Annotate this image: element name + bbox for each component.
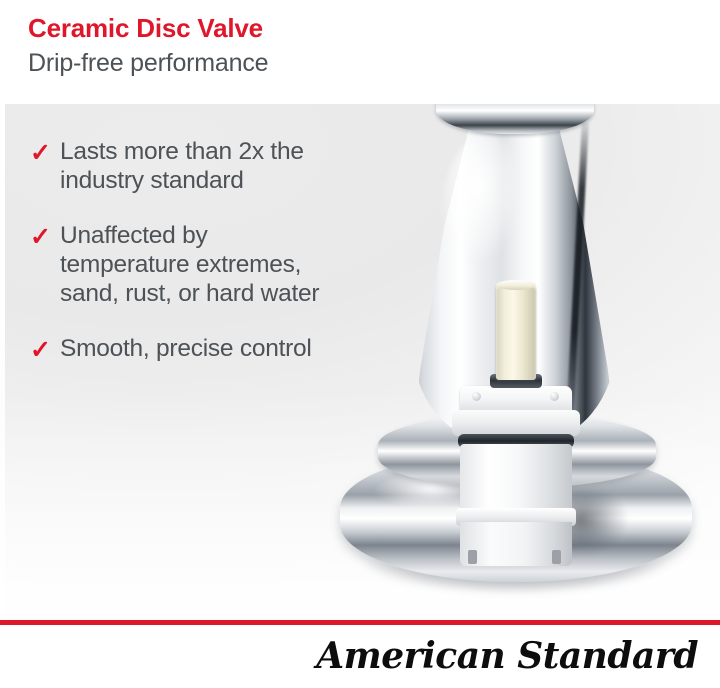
page-subtitle: Drip-free performance: [28, 48, 720, 78]
brand-logo: American Standard: [316, 635, 698, 677]
list-item: ✓ Unaffected by temperature extremes, sa…: [30, 222, 360, 309]
list-item: ✓ Smooth, precise control: [30, 335, 360, 366]
feature-text: Lasts more than 2x the industry standard: [60, 138, 328, 196]
feature-text: Unaffected by temperature extremes, sand…: [60, 222, 328, 309]
cartridge-notch-left: [468, 550, 477, 564]
page-title: Ceramic Disc Valve: [28, 14, 720, 44]
cartridge-screw-left-icon: [472, 392, 481, 401]
infographic-page: Ceramic Disc Valve Drip-free performance: [0, 0, 720, 688]
product-photo: [300, 104, 720, 622]
check-icon: ✓: [30, 223, 60, 253]
chrome-handle-cap: [436, 104, 594, 134]
cartridge-notch-right: [552, 550, 561, 564]
footer: American Standard: [0, 625, 720, 688]
check-icon: ✓: [30, 139, 60, 169]
feature-text: Smooth, precise control: [60, 335, 312, 364]
header: Ceramic Disc Valve Drip-free performance: [0, 0, 720, 104]
left-edge-strip: [0, 104, 5, 622]
feature-list: ✓ Lasts more than 2x the industry standa…: [0, 104, 360, 604]
cartridge-screw-right-icon: [550, 392, 559, 401]
stem-top-cap: [496, 280, 536, 290]
brass-valve-stem: [496, 284, 536, 380]
cartridge-flange: [452, 410, 580, 436]
list-item: ✓ Lasts more than 2x the industry standa…: [30, 138, 360, 196]
check-icon: ✓: [30, 336, 60, 366]
white-ceramic-cartridge: [460, 444, 572, 514]
